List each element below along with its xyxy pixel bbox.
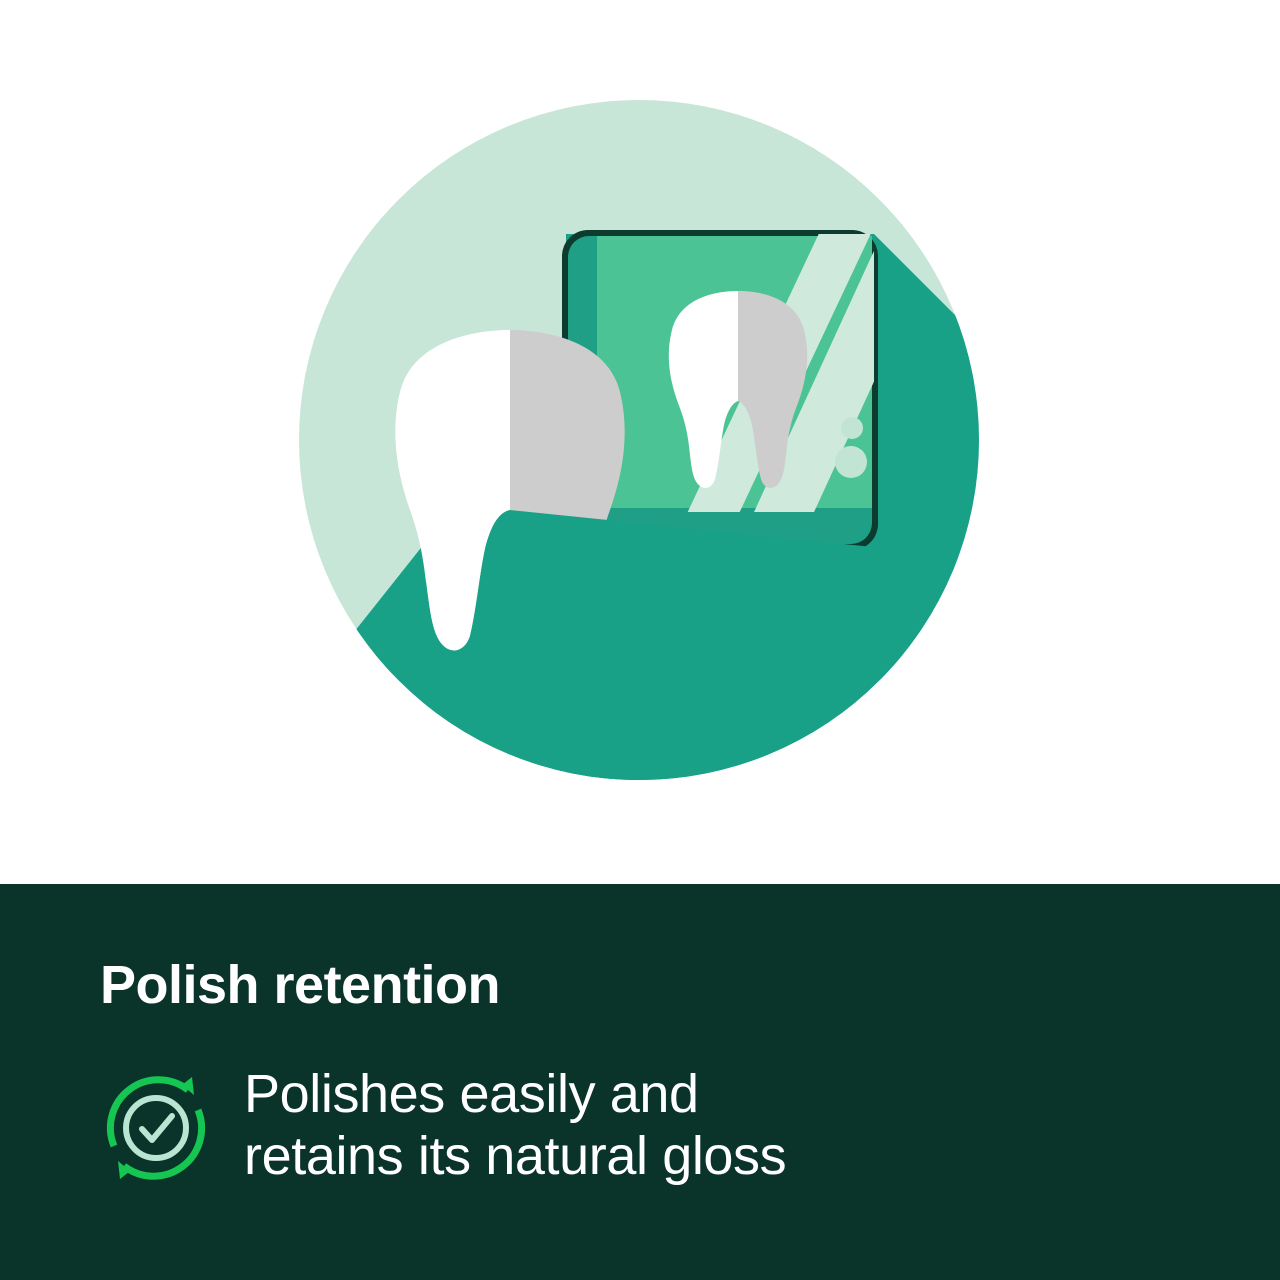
screen-dot-small	[841, 417, 863, 439]
tooth-mirror-illustration	[0, 0, 1280, 884]
benefit-text-line-2: retains its natural gloss	[244, 1126, 786, 1188]
panel-title: Polish retention	[100, 958, 500, 1012]
benefit-text-line-1: Polishes easily and	[244, 1064, 786, 1126]
benefit-text: Polishes easily and retains its natural …	[244, 1060, 786, 1187]
illustration-area	[0, 0, 1280, 884]
benefit-row: Polishes easily and retains its natural …	[92, 1060, 786, 1192]
caption-panel: Polish retention	[0, 884, 1280, 1280]
refresh-check-icon	[92, 1064, 220, 1192]
page-root: Polish retention	[0, 0, 1280, 1280]
check-mark	[142, 1116, 172, 1140]
inner-circle	[126, 1098, 186, 1158]
screen-dot-large	[835, 446, 867, 478]
tooth-cast-shadow	[426, 510, 1000, 800]
